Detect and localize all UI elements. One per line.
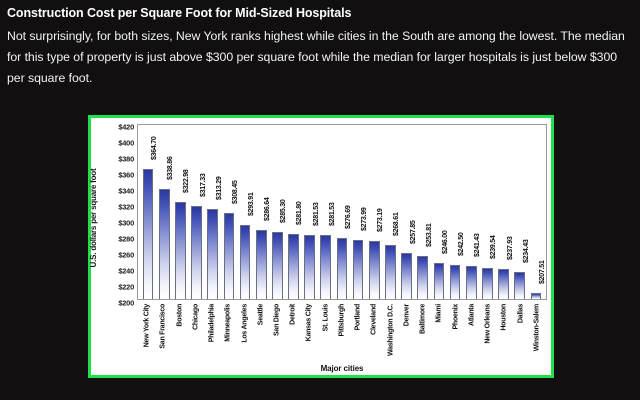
- y-axis-tick: $320: [102, 203, 134, 212]
- y-axis-tick: $340: [102, 187, 134, 196]
- x-tick-slot: Seattle: [253, 302, 269, 364]
- bar-slot: $317.33: [188, 125, 204, 299]
- y-axis-tick-labels: $420$400$380$360$340$320$300$280$260$240…: [102, 124, 134, 300]
- x-axis-tick-labels: New York CitySan FranciscoBostonChicagoP…: [137, 302, 547, 364]
- bar[interactable]: $322.98: [175, 202, 186, 299]
- bar-slot: $285.30: [269, 125, 285, 299]
- bar[interactable]: $293.91: [240, 225, 251, 299]
- bar-slot: $281.53: [302, 125, 318, 299]
- y-axis-tick: $300: [102, 219, 134, 228]
- bar-slot: $268.61: [382, 125, 398, 299]
- y-axis-tick: $380: [102, 155, 134, 164]
- x-tick-slot: Denver: [399, 302, 415, 364]
- bar[interactable]: $241.43: [466, 266, 477, 299]
- article-body-text: Not surprisingly, for both sizes, New Yo…: [7, 26, 633, 89]
- x-axis-tick: Pittsburgh: [338, 304, 345, 337]
- bar-slot: $281.53: [318, 125, 334, 299]
- x-tick-slot: Minneapolis: [220, 302, 236, 364]
- bar-slot: $253.81: [415, 125, 431, 299]
- bar-slot: $237.93: [495, 125, 511, 299]
- bar-slot: $241.43: [463, 125, 479, 299]
- bar[interactable]: $338.86: [159, 189, 170, 299]
- x-axis-tick: San Diego: [273, 304, 280, 336]
- bar-slot: $338.86: [156, 125, 172, 299]
- bar[interactable]: $313.29: [207, 209, 218, 299]
- x-axis-tick: Houston: [501, 304, 508, 331]
- bar-slot: $313.29: [205, 125, 221, 299]
- y-axis-tick: $280: [102, 235, 134, 244]
- y-axis-tick: $240: [102, 267, 134, 276]
- page-title: Construction Cost per Square Foot for Mi…: [7, 5, 633, 21]
- x-tick-slot: New York City: [139, 302, 155, 364]
- x-tick-slot: Boston: [171, 302, 187, 364]
- x-axis-tick: Dallas: [517, 304, 524, 323]
- x-tick-slot: Pittsburgh: [334, 302, 350, 364]
- bar[interactable]: $281.53: [304, 235, 315, 299]
- x-tick-slot: Kansas City: [301, 302, 317, 364]
- bar[interactable]: $364.70: [143, 169, 154, 299]
- x-axis-tick: Cleveland: [371, 304, 378, 335]
- x-tick-slot: Phoenix: [447, 302, 463, 364]
- x-tick-slot: Miami: [431, 302, 447, 364]
- x-axis-tick: Philadelphia: [209, 304, 216, 342]
- x-tick-slot: Detroit: [285, 302, 301, 364]
- x-tick-slot: Dallas: [512, 302, 528, 364]
- y-axis-tick: $420: [102, 123, 134, 132]
- x-tick-slot: New Orleans: [480, 302, 496, 364]
- bar-slot: $239.54: [479, 125, 495, 299]
- y-axis-tick: $200: [102, 299, 134, 308]
- x-tick-slot: San Francisco: [155, 302, 171, 364]
- x-axis-tick: Washington D.C.: [387, 304, 394, 356]
- bar[interactable]: $308.45: [224, 213, 235, 299]
- bar-slot: $234.43: [512, 125, 528, 299]
- x-axis-tick: Denver: [403, 304, 410, 326]
- y-axis-tick: $360: [102, 171, 134, 180]
- x-axis-tick: Portland: [355, 304, 362, 330]
- x-tick-slot: San Diego: [269, 302, 285, 364]
- x-tick-slot: Chicago: [188, 302, 204, 364]
- bar-series: $364.70$338.86$322.98$317.33$313.29$308.…: [138, 125, 546, 299]
- y-axis-tick: $400: [102, 139, 134, 148]
- bar[interactable]: $207.51: [531, 293, 542, 299]
- bar-slot: $293.91: [237, 125, 253, 299]
- x-axis-tick: Phoenix: [452, 304, 459, 329]
- y-axis-tick: $220: [102, 283, 134, 292]
- x-axis-tick: New York City: [144, 304, 151, 347]
- bar-slot: $242.50: [447, 125, 463, 299]
- bar-slot: $286.64: [253, 125, 269, 299]
- x-tick-slot: Atlanta: [464, 302, 480, 364]
- bar-slot: $308.45: [221, 125, 237, 299]
- bar[interactable]: $237.93: [498, 269, 509, 299]
- bar[interactable]: $281.53: [320, 235, 331, 299]
- bar[interactable]: $317.33: [191, 206, 202, 299]
- x-axis-tick: Seattle: [257, 304, 264, 325]
- bar-slot: $273.99: [350, 125, 366, 299]
- bar[interactable]: $286.64: [256, 230, 267, 299]
- x-axis-tick: Miami: [436, 304, 443, 323]
- bar[interactable]: $285.30: [272, 232, 283, 299]
- chart-inner: U.S. dollars per square foot $420$400$38…: [91, 118, 551, 375]
- x-tick-slot: Cleveland: [366, 302, 382, 364]
- bar-value-label: $207.51: [539, 261, 546, 285]
- x-tick-slot: Washington D.C.: [383, 302, 399, 364]
- bar-slot: $322.98: [172, 125, 188, 299]
- bar[interactable]: $257.85: [401, 253, 412, 299]
- bar-slot: $246.00: [431, 125, 447, 299]
- page-root: Construction Cost per Square Foot for Mi…: [0, 0, 640, 400]
- plot-area: $364.70$338.86$322.98$317.33$313.29$308.…: [137, 124, 547, 300]
- x-axis-tick: Winston-Salem: [533, 304, 540, 351]
- x-axis-tick: Kansas City: [306, 304, 313, 341]
- x-tick-slot: St. Louis: [318, 302, 334, 364]
- x-tick-slot: Philadelphia: [204, 302, 220, 364]
- x-axis-tick: St. Louis: [322, 304, 329, 331]
- x-axis-tick: Boston: [176, 304, 183, 327]
- bar[interactable]: $276.69: [337, 238, 348, 299]
- bar[interactable]: $273.99: [353, 240, 364, 299]
- bar[interactable]: $281.80: [288, 234, 299, 299]
- x-axis-tick: San Francisco: [160, 304, 167, 349]
- x-axis-tick: Baltimore: [420, 304, 427, 334]
- x-axis-tick: Los Angeles: [241, 304, 248, 343]
- bar[interactable]: $242.50: [450, 265, 461, 299]
- x-axis-tick: Atlanta: [468, 304, 475, 326]
- x-axis-title: Major cities: [137, 364, 547, 373]
- bar[interactable]: $234.43: [514, 272, 525, 299]
- bar[interactable]: $239.54: [482, 268, 493, 299]
- bar-slot: $364.70: [140, 125, 156, 299]
- bar-slot: $257.85: [399, 125, 415, 299]
- bar-slot: $207.51: [528, 125, 544, 299]
- x-tick-slot: Houston: [496, 302, 512, 364]
- y-axis-tick: $260: [102, 251, 134, 260]
- x-tick-slot: Portland: [350, 302, 366, 364]
- bar[interactable]: $246.00: [434, 263, 445, 299]
- x-axis-tick: Chicago: [192, 304, 199, 330]
- x-axis-tick: Detroit: [290, 304, 297, 325]
- x-tick-slot: Winston-Salem: [529, 302, 545, 364]
- bar-slot: $273.19: [366, 125, 382, 299]
- x-axis-tick: New Orleans: [485, 304, 492, 344]
- x-tick-slot: Baltimore: [415, 302, 431, 364]
- article-header: Construction Cost per Square Foot for Mi…: [7, 5, 633, 89]
- bar[interactable]: $253.81: [417, 256, 428, 299]
- x-tick-slot: Los Angeles: [236, 302, 252, 364]
- bar-slot: $276.69: [334, 125, 350, 299]
- bar[interactable]: $273.19: [369, 241, 380, 299]
- x-axis-tick: Minneapolis: [225, 304, 232, 342]
- bar[interactable]: $268.61: [385, 245, 396, 299]
- bar-slot: $281.80: [285, 125, 301, 299]
- chart-panel: U.S. dollars per square foot $420$400$38…: [88, 115, 554, 378]
